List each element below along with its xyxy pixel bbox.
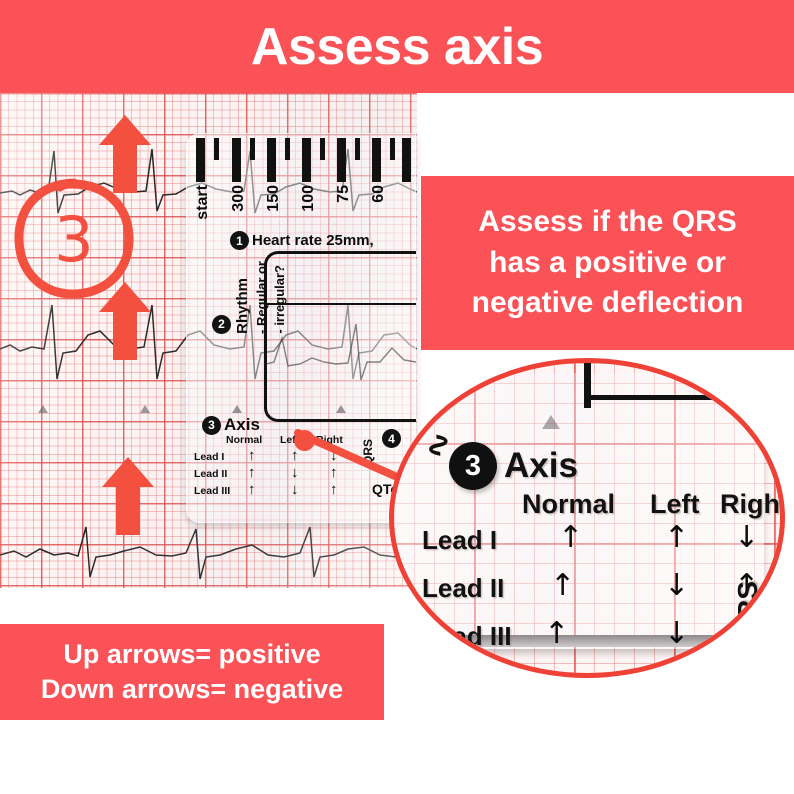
ruler-label-150: 150 — [265, 185, 283, 212]
section-badge-2: 2 — [212, 315, 231, 334]
magnifier-arrow-l3-left: ↓ — [664, 619, 689, 649]
magnifier-zoom-circle: ∿ 3 Axis Normal Left Right Lead I ↑ ↑ ↓ … — [389, 358, 785, 678]
page-title: Assess axis — [251, 21, 543, 73]
magnifier-qrs-label: QRS — [732, 581, 764, 642]
mini-row-lead-1: Lead I — [194, 451, 224, 463]
mini-col-normal: Normal — [226, 434, 262, 446]
magnifier-anchor-dot — [294, 430, 315, 451]
ruler-tick — [302, 138, 311, 182]
callout-bottom-line-1: Up arrows= positive — [63, 637, 320, 672]
ruler-tick — [285, 138, 290, 160]
callout-right-line-3: negative deflection — [472, 284, 744, 322]
magnifier-arrow-l1-right: ↓ — [734, 523, 759, 553]
magnifier-col-left: Left — [650, 489, 700, 520]
section-badge-1: 1 — [230, 231, 249, 250]
ruler-tick — [214, 138, 219, 160]
ruler-tick — [337, 138, 346, 182]
ruler-label-start: start — [194, 185, 212, 220]
ruler-triangle-icon — [232, 405, 242, 413]
ruler-tick — [355, 138, 360, 160]
ruler-label-60: 60 — [370, 185, 388, 203]
ruler-label-100: 100 — [300, 185, 318, 212]
magnifier-lead-2: Lead II — [422, 573, 504, 604]
callout-right-line-1: Assess if the QRS — [478, 203, 736, 241]
ruler-tick — [267, 138, 276, 182]
section-sub-2b: - irregular? — [272, 265, 287, 334]
ruler-triangle-icon — [336, 405, 346, 413]
mini-row-lead-3: Lead III — [194, 485, 230, 497]
up-arrow-icon — [100, 455, 156, 537]
mini-arrow-l1-normal: ↑ — [248, 448, 256, 463]
up-arrow-icon — [97, 280, 153, 362]
mini-arrow-l2-normal: ↑ — [248, 465, 256, 480]
magnifier-table-header-row: Normal Left Right — [414, 489, 770, 525]
magnifier-arrow-l2-normal: ↑ — [550, 571, 575, 601]
magnifier-table-row: Lead I ↑ ↑ ↓ — [414, 525, 770, 573]
ruler-section-2: 2 Rhythm - Regular or - irregular? — [212, 261, 287, 334]
ruler-section-1: 1 Heart rate 25mm, — [230, 231, 374, 250]
magnifier-lead-1: Lead I — [422, 525, 497, 556]
magnifier-triangle-icon — [542, 415, 560, 429]
magnifier-arrow-l1-normal: ↑ — [558, 523, 583, 553]
mini-row-lead-2: Lead II — [194, 468, 227, 480]
ruler-tick — [402, 138, 411, 182]
magnifier-step-badge: 3 — [449, 442, 497, 490]
magnifier-col-right: Right — [720, 489, 785, 520]
up-arrow-icon — [97, 113, 153, 195]
magnifier-arrow-l1-left: ↑ — [664, 523, 689, 553]
magnifier-col-normal: Normal — [522, 489, 615, 520]
magnifier-title: Axis — [504, 446, 578, 486]
ruler-tick — [196, 138, 205, 182]
magnifier-arrow-l2-left: ↓ — [664, 571, 689, 601]
ruler-tick — [250, 138, 255, 160]
ruler-tick-marks — [196, 138, 416, 184]
ruler-tick — [390, 138, 395, 160]
ruler-tick — [372, 138, 381, 182]
section-label-1: Heart rate 25mm, — [252, 232, 374, 249]
magnifier-lead-3: Lead III — [422, 621, 512, 652]
ruler-label-75: 75 — [335, 185, 353, 203]
mini-arrow-l3-normal: ↑ — [248, 482, 256, 497]
section-label-2: Rhythm — [234, 278, 251, 334]
ruler-label-300: 300 — [230, 185, 248, 212]
callout-panel-bottom: Up arrows= positive Down arrows= negativ… — [0, 624, 384, 720]
magnifier-window-line — [590, 395, 785, 400]
magnifier-table-row: Lead II ↑ ↓ ↑ — [414, 573, 770, 621]
callout-right-line-2: has a positive or — [489, 244, 726, 282]
magnifier-axis-table: Normal Left Right Lead I ↑ ↑ ↓ Lead II ↑… — [414, 489, 770, 669]
magnifier-window-border — [584, 358, 785, 408]
callout-panel-right: Assess if the QRS has a positive or nega… — [421, 176, 794, 350]
ruler-tick — [232, 138, 241, 182]
magnifier-arrow-l3-normal: ↑ — [544, 619, 569, 649]
magnifier-table-row: Lead III ↑ ↓ ↑ — [414, 621, 770, 669]
section-sub-2a: - Regular or — [254, 261, 269, 334]
callout-bottom-line-2: Down arrows= negative — [41, 672, 343, 707]
ruler-tick — [320, 138, 325, 160]
title-banner: Assess axis — [0, 0, 794, 93]
